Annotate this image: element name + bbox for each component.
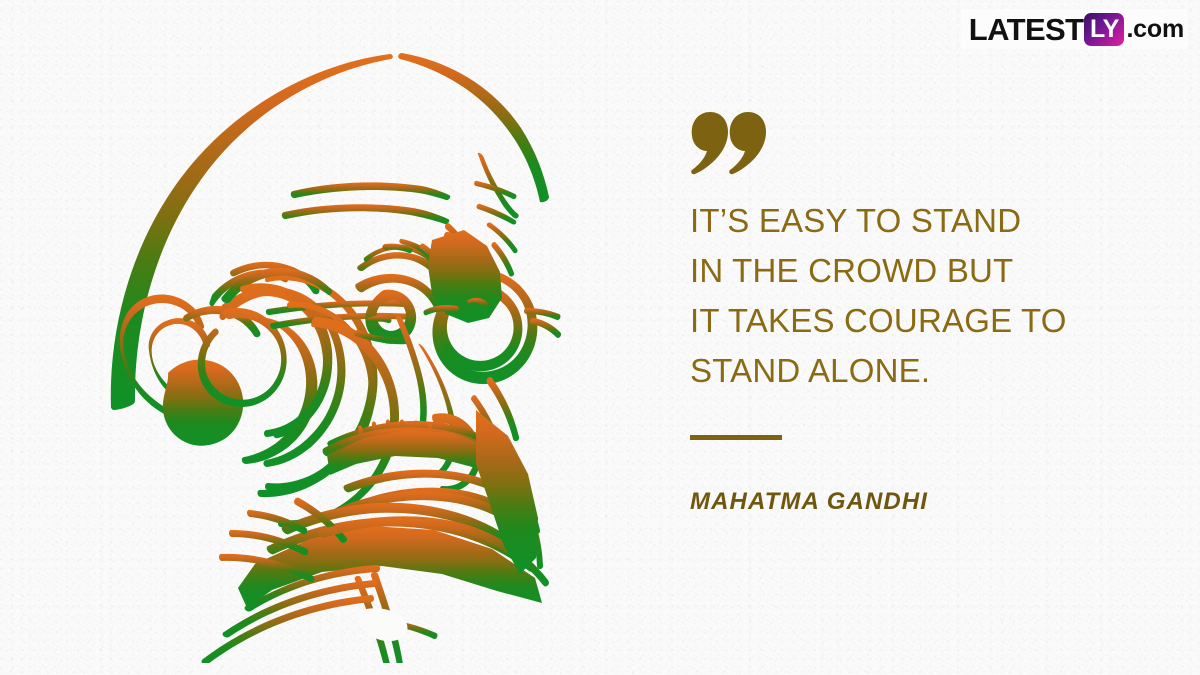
opening-quotation-mark-icon — [690, 112, 1160, 178]
quote-divider-rule — [690, 435, 782, 440]
quote-author: MAHATMA GANDHI — [690, 488, 1160, 516]
logo-text-latest: LATEST — [969, 14, 1084, 45]
latestly-logo[interactable]: LATEST LY .com — [961, 9, 1188, 49]
logo-text-ly: LY — [1090, 17, 1119, 42]
quote-line-2: IN THE CROWD BUT — [690, 246, 1160, 296]
quote-block: IT’S EASY TO STAND IN THE CROWD BUT IT T… — [690, 112, 1160, 516]
quote-text: IT’S EASY TO STAND IN THE CROWD BUT IT T… — [690, 196, 1160, 396]
quote-line-1: IT’S EASY TO STAND — [690, 196, 1160, 246]
quote-line-3: IT TAKES COURAGE TO — [690, 296, 1160, 346]
logo-text-com: .com — [1126, 17, 1184, 42]
quote-card: IT’S EASY TO STAND IN THE CROWD BUT IT T… — [0, 0, 1200, 675]
logo-ly-badge: LY — [1084, 13, 1124, 46]
quote-line-4: STAND ALONE. — [690, 346, 1160, 396]
mahatma-gandhi-portrait-illustration — [72, 18, 592, 663]
